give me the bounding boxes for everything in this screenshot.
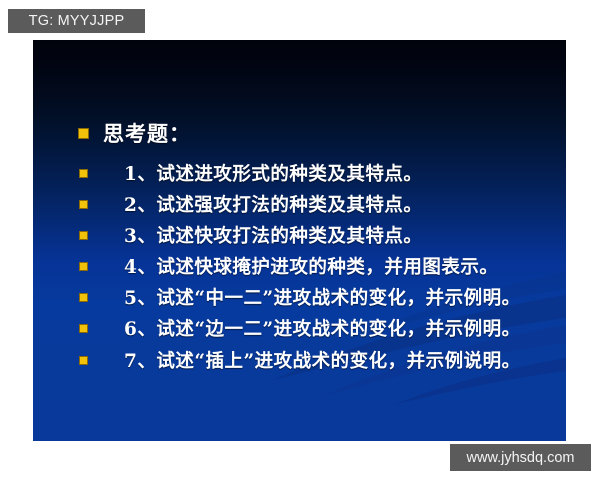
slide-item-6: 6、试述“边一二”进攻战术的变化，并示例明。: [79, 316, 521, 340]
square-bullet-icon: [79, 356, 88, 365]
square-bullet-icon: [79, 324, 88, 333]
presentation-slide: 思考题： 1、试述进攻形式的种类及其特点。 2、试述强攻打法的种类及其特点。 3…: [33, 40, 566, 441]
site-watermark: www.jyhsdq.com: [450, 444, 591, 471]
slide-item-text: 7、试述“插上”进攻战术的变化，并示例说明。: [124, 347, 521, 373]
tg-badge-label: TG: MYYJJPP: [29, 13, 125, 29]
slide-title-text: 思考题：: [103, 118, 191, 148]
slide-item-text: 6、试述“边一二”进攻战术的变化，并示例明。: [124, 315, 521, 341]
slide-item-4: 4、试述快球掩护进攻的种类，并用图表示。: [79, 254, 498, 278]
slide-item-text: 1、试述进攻形式的种类及其特点。: [124, 160, 422, 186]
square-bullet-icon: [78, 128, 89, 139]
square-bullet-icon: [79, 231, 88, 240]
slide-item-text: 3、试述快攻打法的种类及其特点。: [124, 222, 422, 248]
slide-item-text: 4、试述快球掩护进攻的种类，并用图表示。: [124, 253, 498, 279]
slide-content: 思考题： 1、试述进攻形式的种类及其特点。 2、试述强攻打法的种类及其特点。 3…: [33, 40, 566, 441]
slide-item-text: 2、试述强攻打法的种类及其特点。: [124, 191, 422, 217]
slide-item-2: 2、试述强攻打法的种类及其特点。: [79, 192, 422, 216]
slide-item-7: 7、试述“插上”进攻战术的变化，并示例说明。: [79, 348, 521, 372]
square-bullet-icon: [79, 293, 88, 302]
slide-title-line: 思考题：: [78, 120, 191, 146]
slide-item-5: 5、试述“中一二”进攻战术的变化，并示例明。: [79, 285, 521, 309]
square-bullet-icon: [79, 200, 88, 209]
slide-item-text: 5、试述“中一二”进攻战术的变化，并示例明。: [124, 284, 521, 310]
site-watermark-label: www.jyhsdq.com: [467, 450, 575, 466]
square-bullet-icon: [79, 262, 88, 271]
slide-item-1: 1、试述进攻形式的种类及其特点。: [79, 161, 422, 185]
slide-item-3: 3、试述快攻打法的种类及其特点。: [79, 223, 422, 247]
square-bullet-icon: [79, 169, 88, 178]
tg-badge: TG: MYYJJPP: [8, 9, 145, 33]
